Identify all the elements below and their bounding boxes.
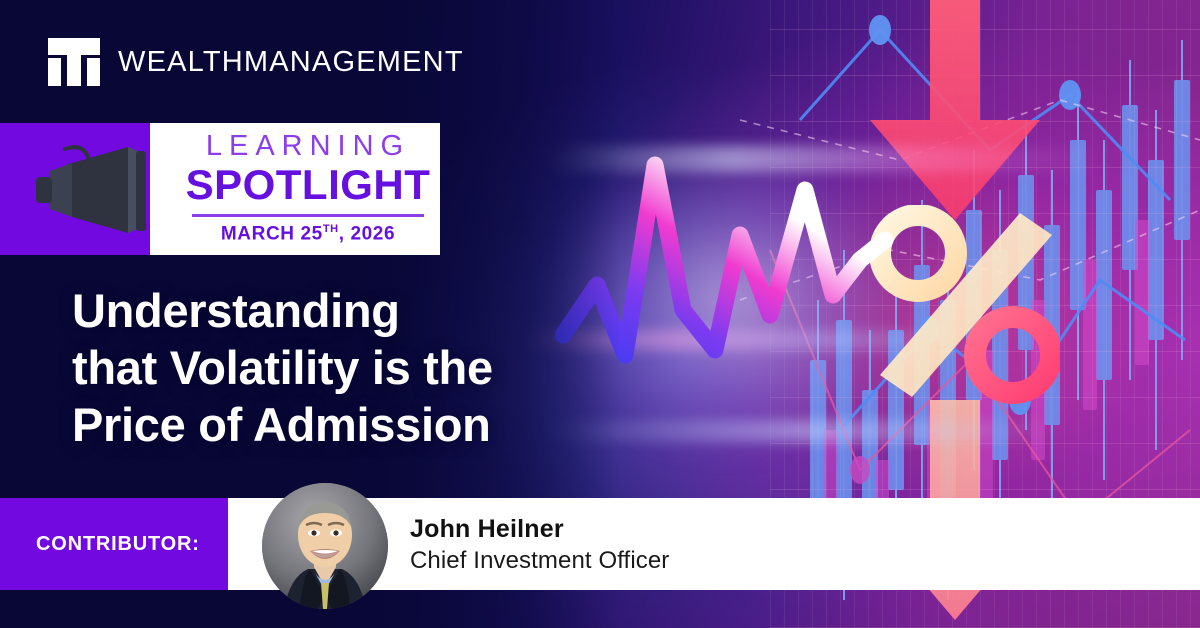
contributor-label-block: CONTRIBUTOR: bbox=[0, 498, 228, 590]
contributor-role: Chief Investment Officer bbox=[410, 547, 669, 575]
badge-date-ordinal: TH bbox=[323, 223, 339, 235]
badge-divider bbox=[192, 214, 424, 217]
headline-line-1: Understanding bbox=[72, 283, 493, 340]
badge-date-year: , 2026 bbox=[339, 224, 395, 245]
promo-banner: WEALTHMANAGEMENT LEARNING SPOTLIGHT MARC… bbox=[0, 0, 1200, 628]
badge-date: MARCH 25TH, 2026 bbox=[221, 223, 395, 245]
learning-spotlight-badge: LEARNING SPOTLIGHT MARCH 25TH, 2026 bbox=[0, 123, 440, 255]
badge-title: SPOTLIGHT bbox=[186, 163, 431, 207]
badge-eyebrow: LEARNING bbox=[206, 132, 410, 161]
contributor-label: CONTRIBUTOR: bbox=[36, 533, 200, 556]
contributor-headshot-avatar bbox=[262, 483, 388, 609]
page-title: Understanding that Volatility is the Pri… bbox=[72, 283, 493, 454]
badge-date-main: MARCH 25 bbox=[221, 224, 323, 245]
spotlight-lamp-icon bbox=[10, 141, 160, 241]
headline-line-3: Price of Admission bbox=[72, 397, 493, 454]
wealthmanagement-pillar-logo-icon bbox=[48, 38, 100, 86]
headline-line-2: that Volatility is the bbox=[72, 340, 493, 397]
brand-logo[interactable]: WEALTHMANAGEMENT bbox=[48, 38, 464, 86]
contributor-name: John Heilner bbox=[410, 515, 564, 544]
badge-text-group: LEARNING SPOTLIGHT MARCH 25TH, 2026 bbox=[176, 123, 440, 255]
brand-name: WEALTHMANAGEMENT bbox=[118, 46, 464, 79]
light-streak bbox=[545, 420, 1065, 442]
